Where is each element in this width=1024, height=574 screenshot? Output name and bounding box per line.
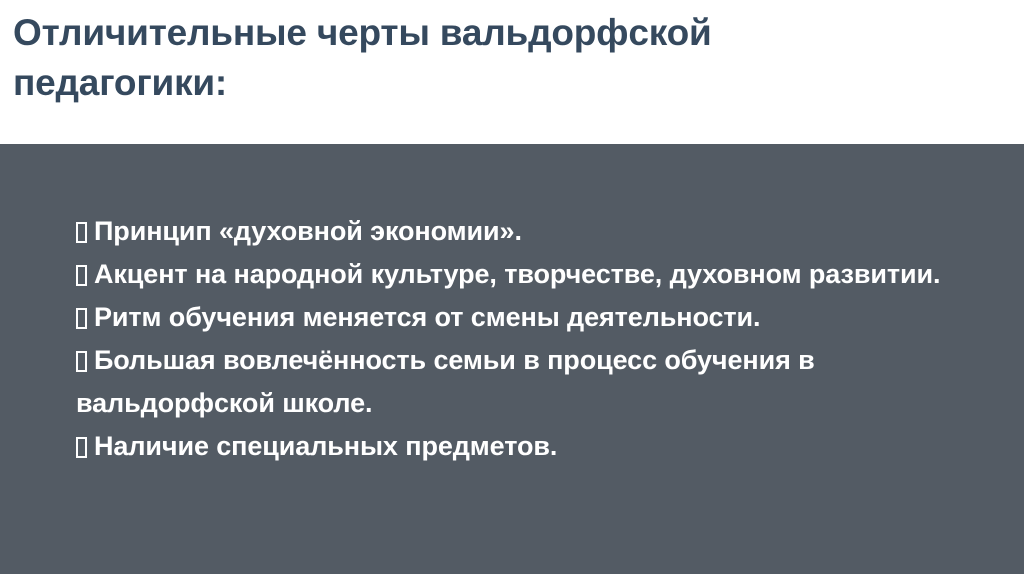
feature-bullet-list: Принцип «духовной экономии». Акцент на н… xyxy=(76,210,1006,468)
list-item-label: Принцип «духовной экономии». xyxy=(94,216,522,246)
list-item: Ритм обучения меняется от смены деятельн… xyxy=(76,296,1006,339)
list-item-label: Большая вовлечённость семьи в процесс об… xyxy=(76,345,815,418)
slide-header-band: Отличительные черты вальдорфской педагог… xyxy=(0,0,1024,144)
list-item: Акцент на народной культуре, творчестве,… xyxy=(76,253,1006,296)
missing-glyph-box-icon xyxy=(76,437,87,458)
missing-glyph-box-icon xyxy=(76,351,87,372)
list-item-label: Ритм обучения меняется от смены деятельн… xyxy=(94,302,760,332)
missing-glyph-box-icon xyxy=(76,265,87,286)
missing-glyph-box-icon xyxy=(76,308,87,329)
list-item-label: Наличие специальных предметов. xyxy=(94,431,557,461)
list-item: Принцип «духовной экономии». xyxy=(76,210,1006,253)
page-title: Отличительные черты вальдорфской педагог… xyxy=(13,8,1009,108)
list-item: Большая вовлечённость семьи в процесс об… xyxy=(76,339,1006,425)
slide-body-panel: Принцип «духовной экономии». Акцент на н… xyxy=(0,144,1024,574)
slide: Отличительные черты вальдорфской педагог… xyxy=(0,0,1024,574)
list-item-label: Акцент на народной культуре, творчестве,… xyxy=(94,259,940,289)
list-item: Наличие специальных предметов. xyxy=(76,425,1006,468)
missing-glyph-box-icon xyxy=(76,222,87,243)
